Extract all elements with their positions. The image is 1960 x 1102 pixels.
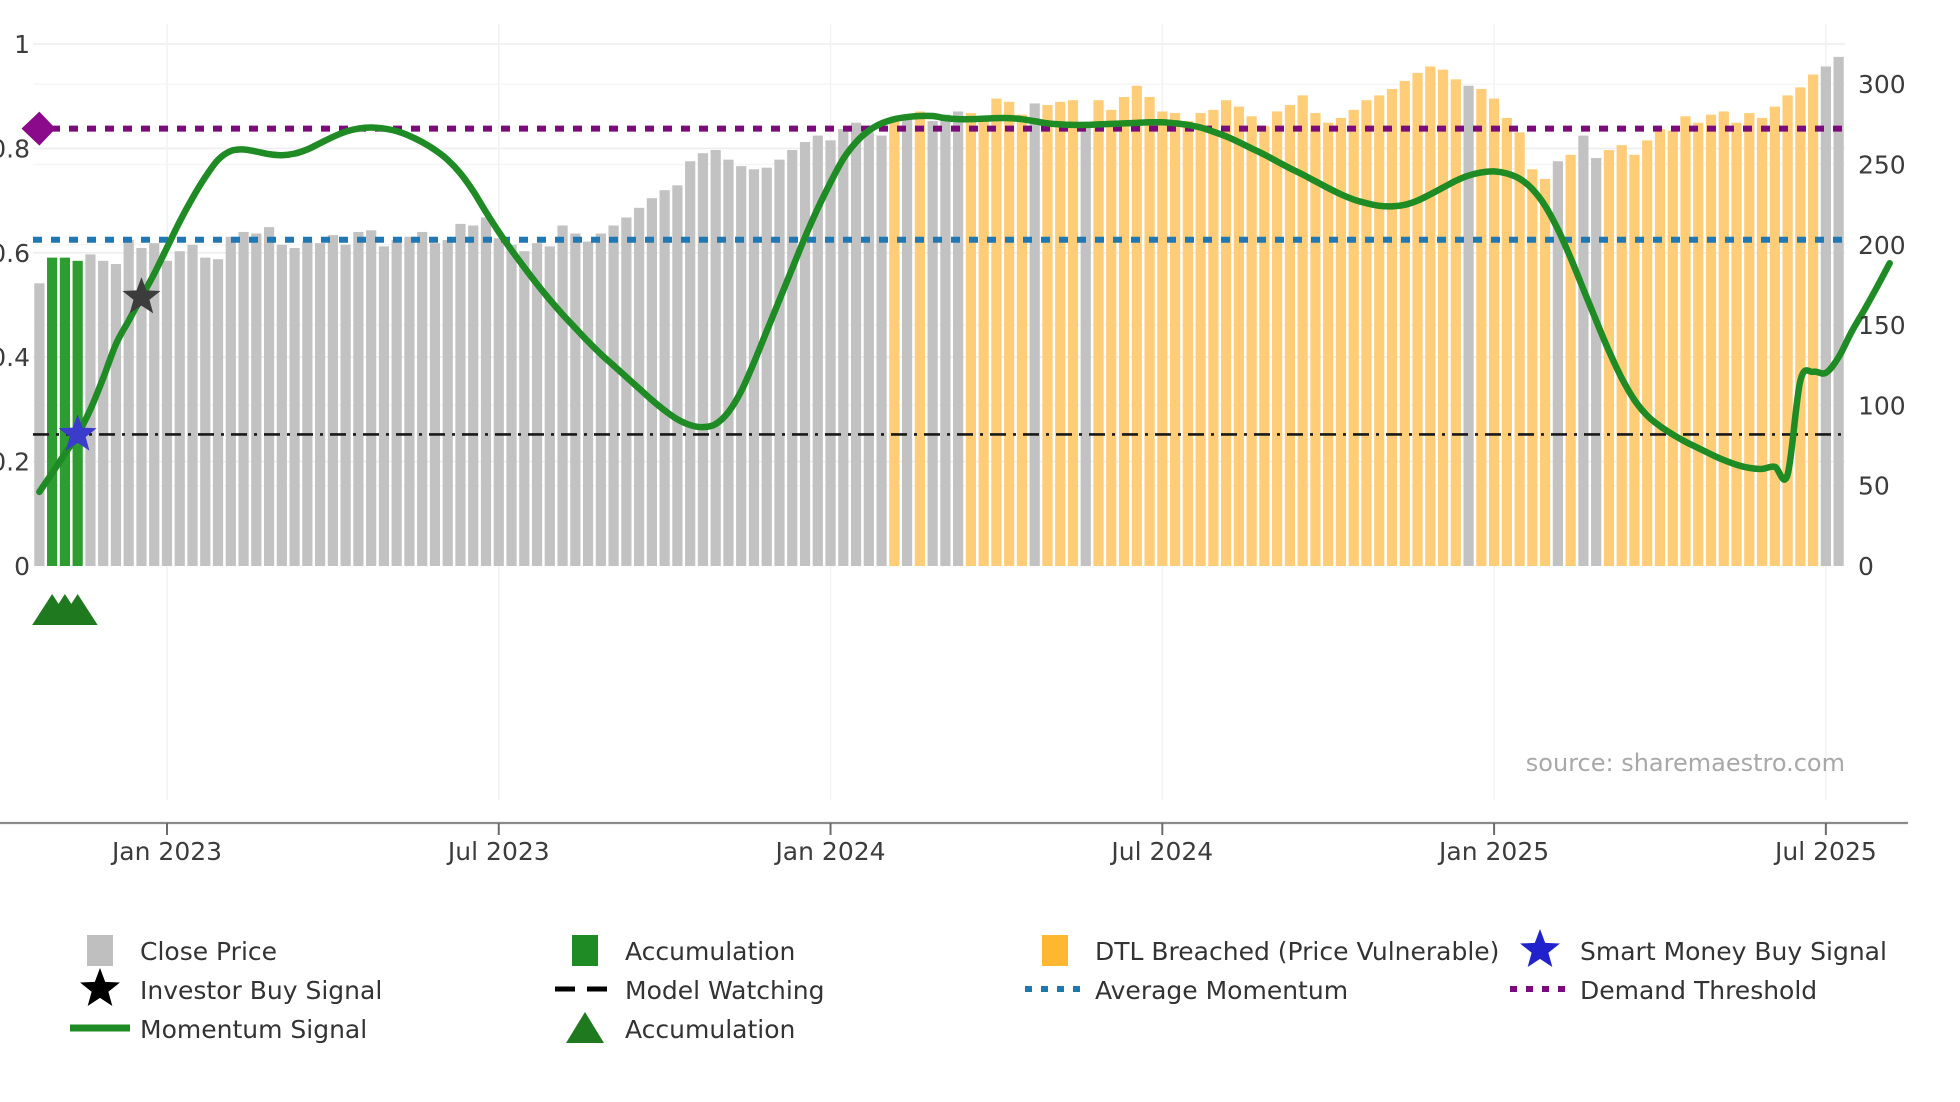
x-tick-label: Jan 2024 xyxy=(773,837,885,866)
price-bar xyxy=(481,217,491,566)
price-bar xyxy=(787,150,797,566)
price-bar xyxy=(1119,97,1129,566)
price-bar xyxy=(557,226,567,567)
price-bar xyxy=(774,160,784,566)
legend-label: DTL Breached (Price Vulnerable) xyxy=(1095,937,1499,966)
left-tick-label: 1 xyxy=(14,30,30,59)
price-bar xyxy=(1336,118,1346,566)
price-bar xyxy=(609,226,619,567)
price-bar xyxy=(443,240,453,566)
price-bar xyxy=(928,121,938,566)
price-bar xyxy=(966,113,976,566)
price-bar xyxy=(289,248,299,566)
price-bar xyxy=(876,136,886,566)
price-bar xyxy=(1706,115,1716,566)
left-tick-label: 0.6 xyxy=(0,239,30,268)
price-bar xyxy=(1132,86,1142,566)
price-bar xyxy=(596,234,606,566)
x-tick-label: Jan 2023 xyxy=(110,837,222,866)
price-bar xyxy=(1195,113,1205,566)
x-tick-label: Jan 2025 xyxy=(1437,837,1549,866)
price-bar xyxy=(60,258,70,566)
price-bar xyxy=(124,240,134,566)
price-bar xyxy=(1093,100,1103,566)
price-bar xyxy=(251,234,261,566)
price-bar xyxy=(315,243,325,566)
price-bar xyxy=(1463,86,1473,566)
price-bar xyxy=(1821,66,1831,566)
price-bar xyxy=(1642,140,1652,566)
price-bar xyxy=(1629,155,1639,566)
price-bar xyxy=(1451,79,1461,566)
price-bar xyxy=(1527,169,1537,566)
price-bar xyxy=(353,232,363,566)
legend-label: Close Price xyxy=(140,937,277,966)
price-bar xyxy=(455,224,465,566)
price-bar xyxy=(864,132,874,566)
price-bar xyxy=(583,242,593,566)
legend-label: Demand Threshold xyxy=(1580,976,1817,1005)
price-bar xyxy=(277,245,287,566)
price-bar xyxy=(200,258,210,566)
price-bar xyxy=(660,190,670,566)
price-bar xyxy=(685,161,695,566)
price-bar xyxy=(1374,95,1384,566)
price-bar xyxy=(1055,102,1065,566)
price-bar xyxy=(379,246,389,566)
price-bar xyxy=(1234,107,1244,566)
financial-momentum-chart: 00.20.40.60.81 050100150200250300 Jan 20… xyxy=(0,0,1960,1102)
price-bar xyxy=(404,237,414,566)
price-bar xyxy=(1170,113,1180,566)
price-bar xyxy=(1668,131,1678,566)
legend-label: Smart Money Buy Signal xyxy=(1580,937,1887,966)
price-bar xyxy=(979,116,989,566)
price-bar xyxy=(213,259,223,566)
price-bar xyxy=(162,261,172,566)
price-bar xyxy=(1808,75,1818,566)
price-bar xyxy=(1387,89,1397,566)
price-bar xyxy=(264,227,274,566)
price-bar xyxy=(1183,121,1193,566)
price-bar xyxy=(1834,57,1844,566)
price-bar xyxy=(1221,100,1231,566)
right-tick-label: 150 xyxy=(1858,311,1906,340)
price-bar xyxy=(1795,87,1805,566)
price-bar xyxy=(1298,95,1308,566)
price-bar xyxy=(1757,118,1767,566)
price-bar xyxy=(111,264,121,566)
price-bar xyxy=(1361,100,1371,566)
price-bar xyxy=(1680,116,1690,566)
legend-swatch-icon xyxy=(87,935,113,966)
legend-swatch-icon xyxy=(572,935,598,966)
price-bar xyxy=(621,217,631,566)
price-bar xyxy=(723,160,733,566)
price-bar xyxy=(1438,70,1448,566)
legend-label: Accumulation xyxy=(625,1015,795,1044)
price-bar xyxy=(1566,155,1576,566)
price-bar xyxy=(647,198,657,566)
price-bar xyxy=(762,168,772,566)
price-bar xyxy=(519,251,529,566)
left-tick-label: 0.8 xyxy=(0,134,30,163)
left-tick-label: 0 xyxy=(14,552,30,581)
price-bar xyxy=(1157,111,1167,566)
right-tick-label: 300 xyxy=(1858,70,1906,99)
price-bar xyxy=(417,232,427,566)
price-bar xyxy=(1515,132,1525,566)
price-bar xyxy=(838,129,848,566)
price-bar xyxy=(187,245,197,566)
price-bar xyxy=(506,245,516,566)
price-bar xyxy=(953,111,963,566)
price-bar xyxy=(494,238,504,566)
price-bar xyxy=(889,121,899,566)
chart-canvas: 00.20.40.60.81 050100150200250300 Jan 20… xyxy=(0,0,1960,1102)
price-bar xyxy=(1591,158,1601,566)
price-bar xyxy=(1400,81,1410,566)
right-tick-label: 200 xyxy=(1858,231,1906,260)
legend-label: Momentum Signal xyxy=(140,1015,367,1044)
price-bar xyxy=(1272,111,1282,566)
price-bar xyxy=(1731,123,1741,566)
price-bar xyxy=(825,140,835,566)
price-bar xyxy=(1259,126,1269,566)
price-bar xyxy=(698,153,708,566)
price-bar xyxy=(1719,111,1729,566)
legend-label: Model Watching xyxy=(625,976,825,1005)
price-bar xyxy=(1030,103,1040,566)
price-bar xyxy=(1655,129,1665,566)
price-bar xyxy=(430,243,440,566)
price-bar xyxy=(1144,97,1154,566)
price-bar xyxy=(800,142,810,566)
price-bar xyxy=(302,242,312,566)
price-bar xyxy=(1208,110,1218,566)
price-bar xyxy=(1617,145,1627,566)
price-bar xyxy=(1425,66,1435,566)
price-bar xyxy=(1042,105,1052,566)
price-bar xyxy=(341,245,351,566)
left-tick-label: 0.2 xyxy=(0,448,30,477)
legend-label: Investor Buy Signal xyxy=(140,976,382,1005)
price-bar xyxy=(711,150,721,566)
price-bar xyxy=(1349,110,1359,566)
price-bar xyxy=(226,237,236,566)
legend-label: Average Momentum xyxy=(1095,976,1348,1005)
price-bar xyxy=(175,251,185,566)
price-bar xyxy=(1578,136,1588,566)
price-bar xyxy=(1081,123,1091,566)
price-bar xyxy=(736,166,746,566)
price-bar xyxy=(98,261,108,566)
price-bar xyxy=(238,232,248,566)
right-tick-label: 0 xyxy=(1858,552,1874,581)
x-tick-label: Jul 2024 xyxy=(1109,837,1213,866)
price-bar xyxy=(73,261,83,566)
price-bar xyxy=(570,234,580,566)
price-bar xyxy=(1693,123,1703,566)
price-bar xyxy=(851,123,861,566)
price-bar xyxy=(915,111,925,566)
price-bar xyxy=(328,235,338,566)
price-bar xyxy=(940,115,950,566)
price-bar xyxy=(902,115,912,566)
price-bar xyxy=(672,185,682,566)
price-bar xyxy=(366,230,376,566)
price-bar xyxy=(1476,89,1486,566)
price-bar xyxy=(1285,105,1295,566)
price-bar xyxy=(1412,73,1422,566)
price-bar xyxy=(1247,116,1257,566)
price-bar xyxy=(1106,110,1116,566)
legend-swatch-icon xyxy=(1042,935,1068,966)
price-bar xyxy=(1502,118,1512,566)
price-bar xyxy=(1782,95,1792,566)
legend-label: Accumulation xyxy=(625,937,795,966)
price-bar xyxy=(392,240,402,566)
price-bar xyxy=(1770,107,1780,566)
price-bar xyxy=(47,258,57,566)
x-tick-label: Jul 2025 xyxy=(1773,837,1877,866)
right-tick-label: 250 xyxy=(1858,151,1906,180)
price-bar xyxy=(1004,102,1014,566)
x-tick-label: Jul 2023 xyxy=(446,837,550,866)
legend-item-dtl-breached[interactable]: DTL Breached (Price Vulnerable) xyxy=(1042,935,1499,966)
left-tick-label: 0.4 xyxy=(0,343,30,372)
price-bar xyxy=(1068,100,1078,566)
source-attribution: source: sharemaestro.com xyxy=(1526,749,1845,777)
price-bar xyxy=(1017,115,1027,566)
price-bar xyxy=(468,226,478,567)
price-bar xyxy=(991,99,1001,566)
right-tick-label: 50 xyxy=(1858,472,1890,501)
price-bar xyxy=(1744,113,1754,566)
right-tick-label: 100 xyxy=(1858,391,1906,420)
price-bar xyxy=(34,283,44,566)
